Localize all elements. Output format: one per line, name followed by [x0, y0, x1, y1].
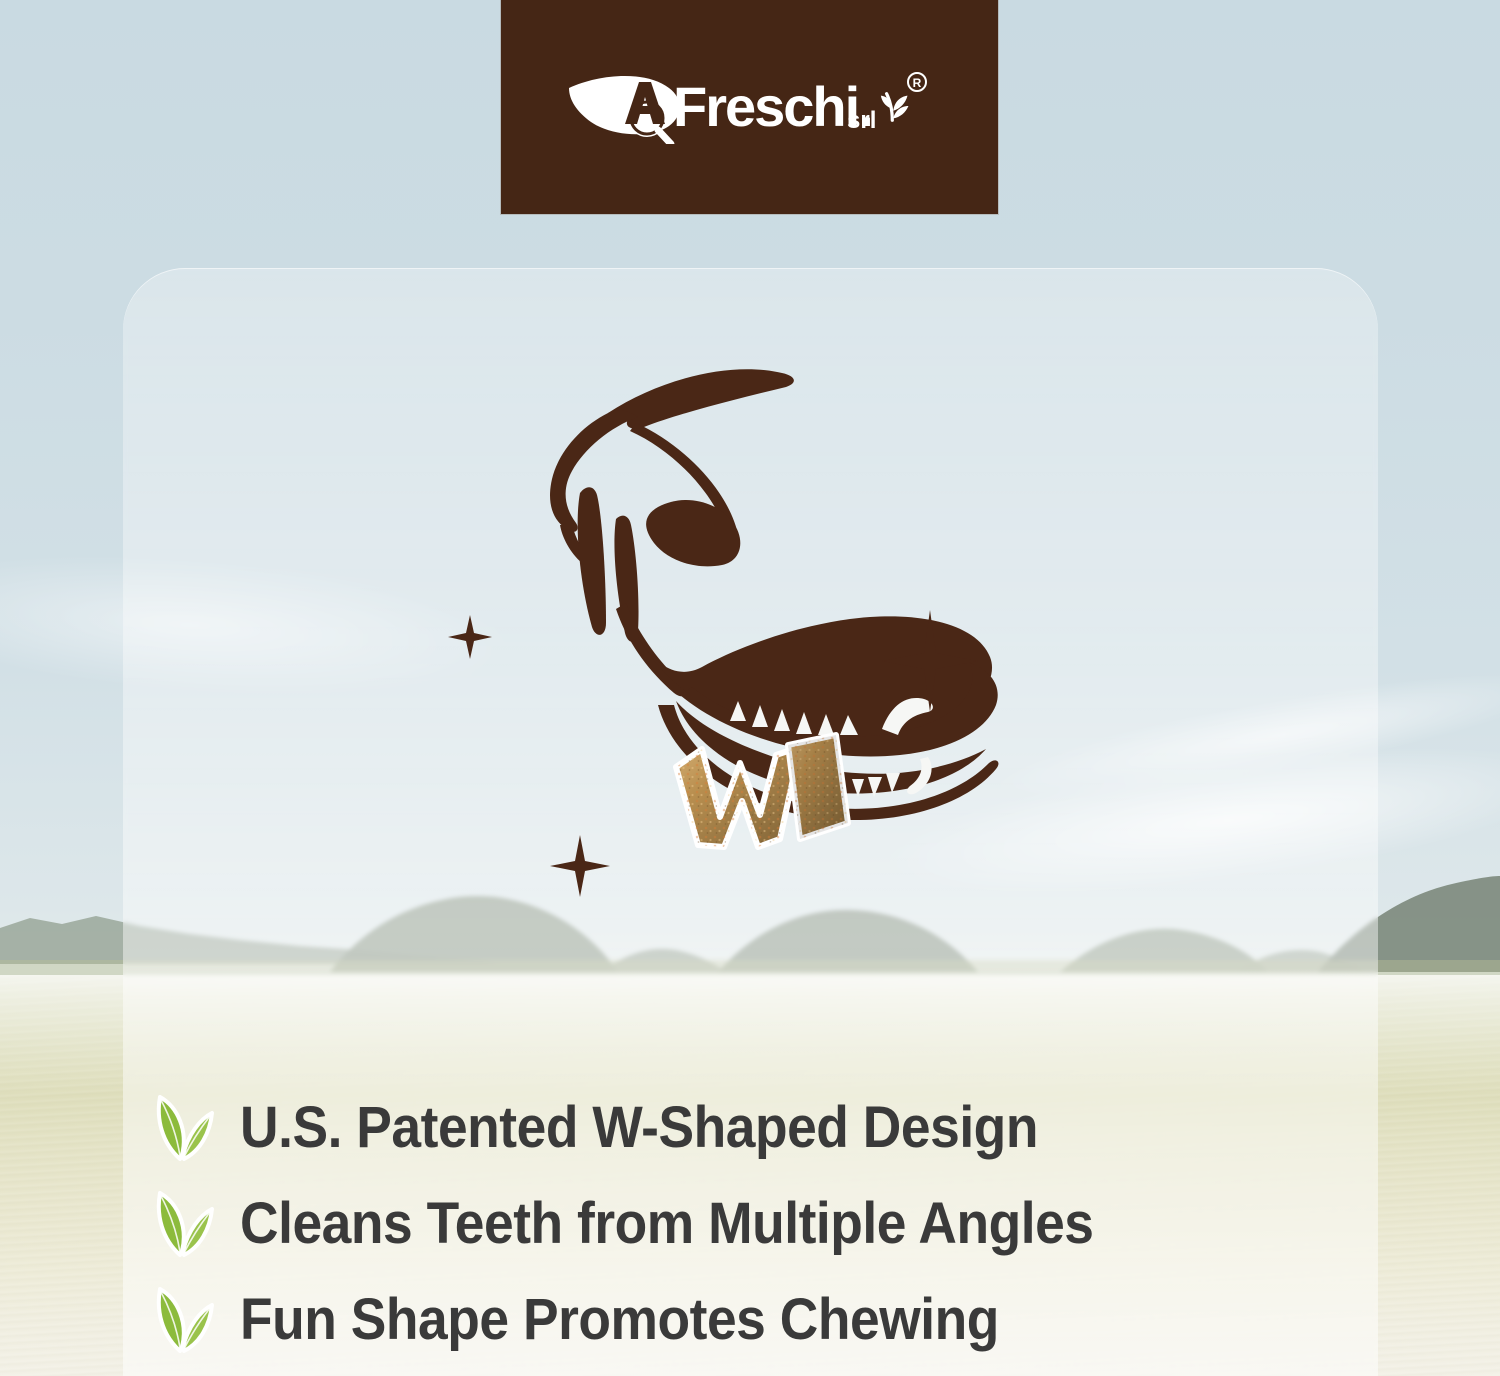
sprout-icon [880, 94, 908, 121]
registered-trademark-icon: R [908, 73, 926, 91]
feature-label: U.S. Patented W-Shaped Design [240, 1099, 1038, 1157]
leaf-icon [148, 1093, 214, 1163]
list-item: Cleans Teeth from Multiple Angles [148, 1176, 1408, 1272]
feature-list: U.S. Patented W-Shaped Design Cleans Tee… [148, 1080, 1408, 1368]
leaf-icon [148, 1189, 214, 1259]
brand-wordmark: Freschi. [673, 75, 872, 138]
brand-suffix: srl [847, 107, 876, 134]
treat-side-slab [788, 735, 848, 839]
list-item: Fun Shape Promotes Chewing [148, 1272, 1408, 1368]
leaf-magnifier-icon [569, 76, 680, 144]
w-shaped-treat [668, 727, 856, 855]
feature-label: Fun Shape Promotes Chewing [240, 1291, 999, 1349]
leaf-icon [148, 1285, 214, 1355]
brand-logo-lockup: Freschi. srl R [565, 66, 935, 144]
dog-mouth-illustration [430, 365, 1010, 960]
treat-w-letter [676, 747, 800, 847]
svg-text:R: R [912, 76, 921, 90]
brand-logo-banner: Freschi. srl R [501, 0, 998, 214]
list-item: U.S. Patented W-Shaped Design [148, 1080, 1408, 1176]
feature-label: Cleans Teeth from Multiple Angles [240, 1195, 1094, 1253]
sparkle-small-left [448, 615, 492, 659]
sparkle-small-bottom [550, 835, 610, 897]
